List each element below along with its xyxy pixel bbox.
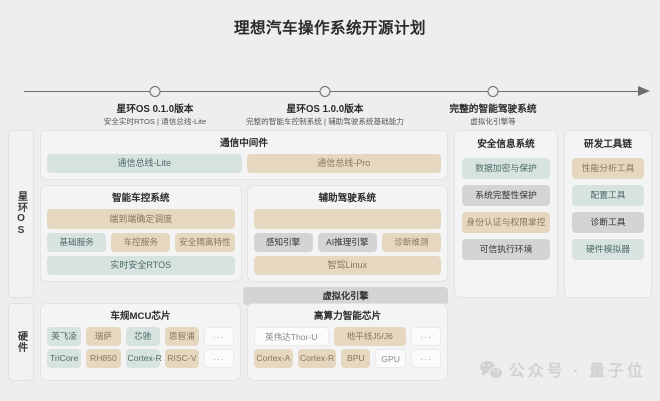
bar-system-integrity[interactable]: 系统完整性保护 — [462, 185, 550, 206]
devtools-title: 研发工具链 — [572, 137, 644, 152]
chip-soc-core-more-icon[interactable]: ··· — [411, 349, 441, 368]
pill-diagnostic-measure[interactable]: 诊断维测 — [382, 233, 441, 252]
soc-title: 高算力智能芯片 — [254, 309, 441, 324]
chip-soc-more-icon[interactable]: ··· — [411, 327, 441, 346]
bar-realtime-rtos[interactable]: 实时安全RTOS — [47, 256, 235, 275]
mcu-core-row: TriCore RH850 Cortex-R RISC-V ··· — [47, 349, 234, 368]
card-soc: 高算力智能芯片 英伟达Thor-U 地平线J5/J6 ··· Cortex-A … — [247, 303, 448, 381]
chip-gpu[interactable]: GPU — [375, 349, 406, 368]
bar-config-tool[interactable]: 配置工具 — [572, 185, 644, 206]
chip-semidrive[interactable]: 芯驰 — [126, 327, 160, 346]
rail-label-os: 星环OS — [8, 130, 34, 298]
bar-performance-tool[interactable]: 性能分析工具 — [572, 158, 644, 179]
rail-hardware-text: 硬件 — [14, 331, 29, 353]
chip-nvidia-thor-u[interactable]: 英伟达Thor-U — [254, 327, 329, 346]
mcu-title: 车规MCU芯片 — [47, 309, 234, 324]
milestone-detail-2: 完整的智能车控制系统 | 辅助驾驶系统基础能力 — [246, 116, 404, 127]
chip-cortex-r-soc[interactable]: Cortex-R — [298, 349, 337, 368]
pill-basic-service[interactable]: 基础服务 — [47, 233, 106, 252]
milestone-title-1: 星环OS 0.1.0版本 — [117, 101, 194, 115]
milestone-detail-3: 虚拟化引擎等 — [470, 116, 516, 127]
security-column: 安全信息系统 数据加密与保护 系统完整性保护 身份认证与权限掌控 可信执行环境 — [454, 130, 558, 298]
chip-mcu-core-more-icon[interactable]: ··· — [204, 349, 234, 368]
chip-bpu[interactable]: BPU — [341, 349, 370, 368]
bar-e2e-scheduling[interactable]: 端到端确定调度 — [47, 209, 235, 229]
milestone-title-3: 完整的智能驾驶系统 — [449, 101, 536, 115]
adas-bottom: 智驾Linux — [254, 256, 442, 275]
chip-risc-v[interactable]: RISC-V — [165, 349, 199, 368]
chip-tricore[interactable]: TriCore — [47, 349, 81, 368]
chip-nxp[interactable]: 恩智浦 — [165, 327, 199, 346]
page-title: 理想汽车操作系统开源计划 — [0, 0, 660, 38]
pill-vehicle-service[interactable]: 车控服务 — [111, 233, 170, 252]
adas-pills: 感知引擎 AI推理引擎 诊断维测 — [254, 233, 442, 252]
timeline-dot-3 — [488, 86, 499, 97]
devtools-column: 研发工具链 性能分析工具 配置工具 诊断工具 硬件模拟器 — [564, 130, 652, 298]
card-adas: 辅助驾驶系统 感知引擎 AI推理引擎 诊断维测 智驾Linux — [247, 185, 449, 282]
subsystems-row: 智能车控系统 端到端确定调度 基础服务 车控服务 安全隔离特性 实时安全RTOS — [40, 185, 448, 282]
chip-cortex-r-mcu[interactable]: Cortex-R — [126, 349, 160, 368]
pill-perception-engine[interactable]: 感知引擎 — [254, 233, 313, 252]
os-main-column: 通信中间件 通信总线-Lite 通信总线-Pro 智能车控系统 端到端确定调度 — [40, 130, 448, 298]
card-middleware: 通信中间件 通信总线-Lite 通信总线-Pro — [40, 130, 448, 180]
card-vehicle-control: 智能车控系统 端到端确定调度 基础服务 车控服务 安全隔离特性 实时安全RTOS — [40, 185, 242, 282]
os-columns: 通信中间件 通信总线-Lite 通信总线-Pro 智能车控系统 端到端确定调度 — [40, 130, 652, 298]
os-layer-row: 星环OS 通信中间件 通信总线-Lite 通信总线-Pro — [8, 130, 652, 298]
chip-mcu-more-icon[interactable]: ··· — [204, 327, 234, 346]
infographic-page: 理想汽车操作系统开源计划 第一阶段 2025-04-23 星环OS 0.1.0版… — [0, 0, 660, 401]
middleware-title: 通信中间件 — [47, 136, 441, 151]
hardware-spacer — [454, 303, 652, 381]
soc-vendor-row: 英伟达Thor-U 地平线J5/J6 ··· — [254, 327, 441, 346]
vehicle-control-pills: 基础服务 车控服务 安全隔离特性 — [47, 233, 235, 252]
bar-comm-bus-lite[interactable]: 通信总线-Lite — [47, 154, 242, 173]
chip-horizon-j5-j6[interactable]: 地平线J5/J6 — [334, 327, 407, 346]
bar-adas-linux[interactable]: 智驾Linux — [254, 256, 442, 275]
timeline-axis — [24, 91, 638, 92]
bar-comm-bus-pro[interactable]: 通信总线-Pro — [247, 154, 442, 173]
chip-infineon[interactable]: 英飞凌 — [47, 327, 81, 346]
bar-identity-auth[interactable]: 身份认证与权限掌控 — [462, 212, 550, 233]
panel-devtools: 研发工具链 性能分析工具 配置工具 诊断工具 硬件模拟器 — [564, 130, 652, 298]
bar-data-encryption[interactable]: 数据加密与保护 — [462, 158, 550, 179]
timeline-dot-2 — [320, 86, 331, 97]
rail-os-text: 星环OS — [14, 191, 29, 237]
vehicle-control-bottom: 实时安全RTOS — [47, 256, 235, 275]
middleware-bars: 通信总线-Lite 通信总线-Pro — [47, 154, 441, 173]
bar-adas-scheduling[interactable] — [254, 209, 442, 229]
chip-cortex-a[interactable]: Cortex-A — [254, 349, 293, 368]
adas-title: 辅助驾驶系统 — [254, 191, 442, 206]
bar-trusted-execution[interactable]: 可信执行环境 — [462, 239, 550, 260]
soc-core-row: Cortex-A Cortex-R BPU GPU ··· — [254, 349, 441, 368]
milestone-title-2: 星环OS 1.0.0版本 — [287, 101, 364, 115]
bar-hardware-simulator[interactable]: 硬件模拟器 — [572, 239, 644, 260]
card-mcu: 车规MCU芯片 英飞凌 瑞萨 芯驰 恩智浦 ··· TriCore RH850 … — [40, 303, 241, 381]
mcu-vendor-row: 英飞凌 瑞萨 芯驰 恩智浦 ··· — [47, 327, 234, 346]
pill-safety-isolation[interactable]: 安全隔离特性 — [175, 233, 234, 252]
timeline-arrow-icon — [638, 86, 650, 96]
panel-security: 安全信息系统 数据加密与保护 系统完整性保护 身份认证与权限掌控 可信执行环境 — [454, 130, 558, 298]
bar-diagnostic-tool[interactable]: 诊断工具 — [572, 212, 644, 233]
roadmap-timeline: 第一阶段 2025-04-23 星环OS 0.1.0版本 安全实时RTOS | … — [0, 44, 660, 136]
chip-renesas[interactable]: 瑞萨 — [86, 327, 120, 346]
rail-label-hardware: 硬件 — [8, 303, 34, 381]
pill-ai-inference-engine[interactable]: AI推理引擎 — [318, 233, 377, 252]
chip-rh850[interactable]: RH850 — [86, 349, 120, 368]
milestone-detail-1: 安全实时RTOS | 通信总线-Lite — [104, 116, 207, 127]
vehicle-control-title: 智能车控系统 — [47, 191, 235, 206]
hardware-layer-row: 硬件 车规MCU芯片 英飞凌 瑞萨 芯驰 恩智浦 ··· TriCore RH8… — [8, 303, 652, 381]
architecture-stack: 星环OS 通信中间件 通信总线-Lite 通信总线-Pro — [8, 130, 652, 395]
timeline-dot-1 — [150, 86, 161, 97]
security-title: 安全信息系统 — [462, 137, 550, 152]
hardware-columns: 车规MCU芯片 英飞凌 瑞萨 芯驰 恩智浦 ··· TriCore RH850 … — [40, 303, 652, 381]
